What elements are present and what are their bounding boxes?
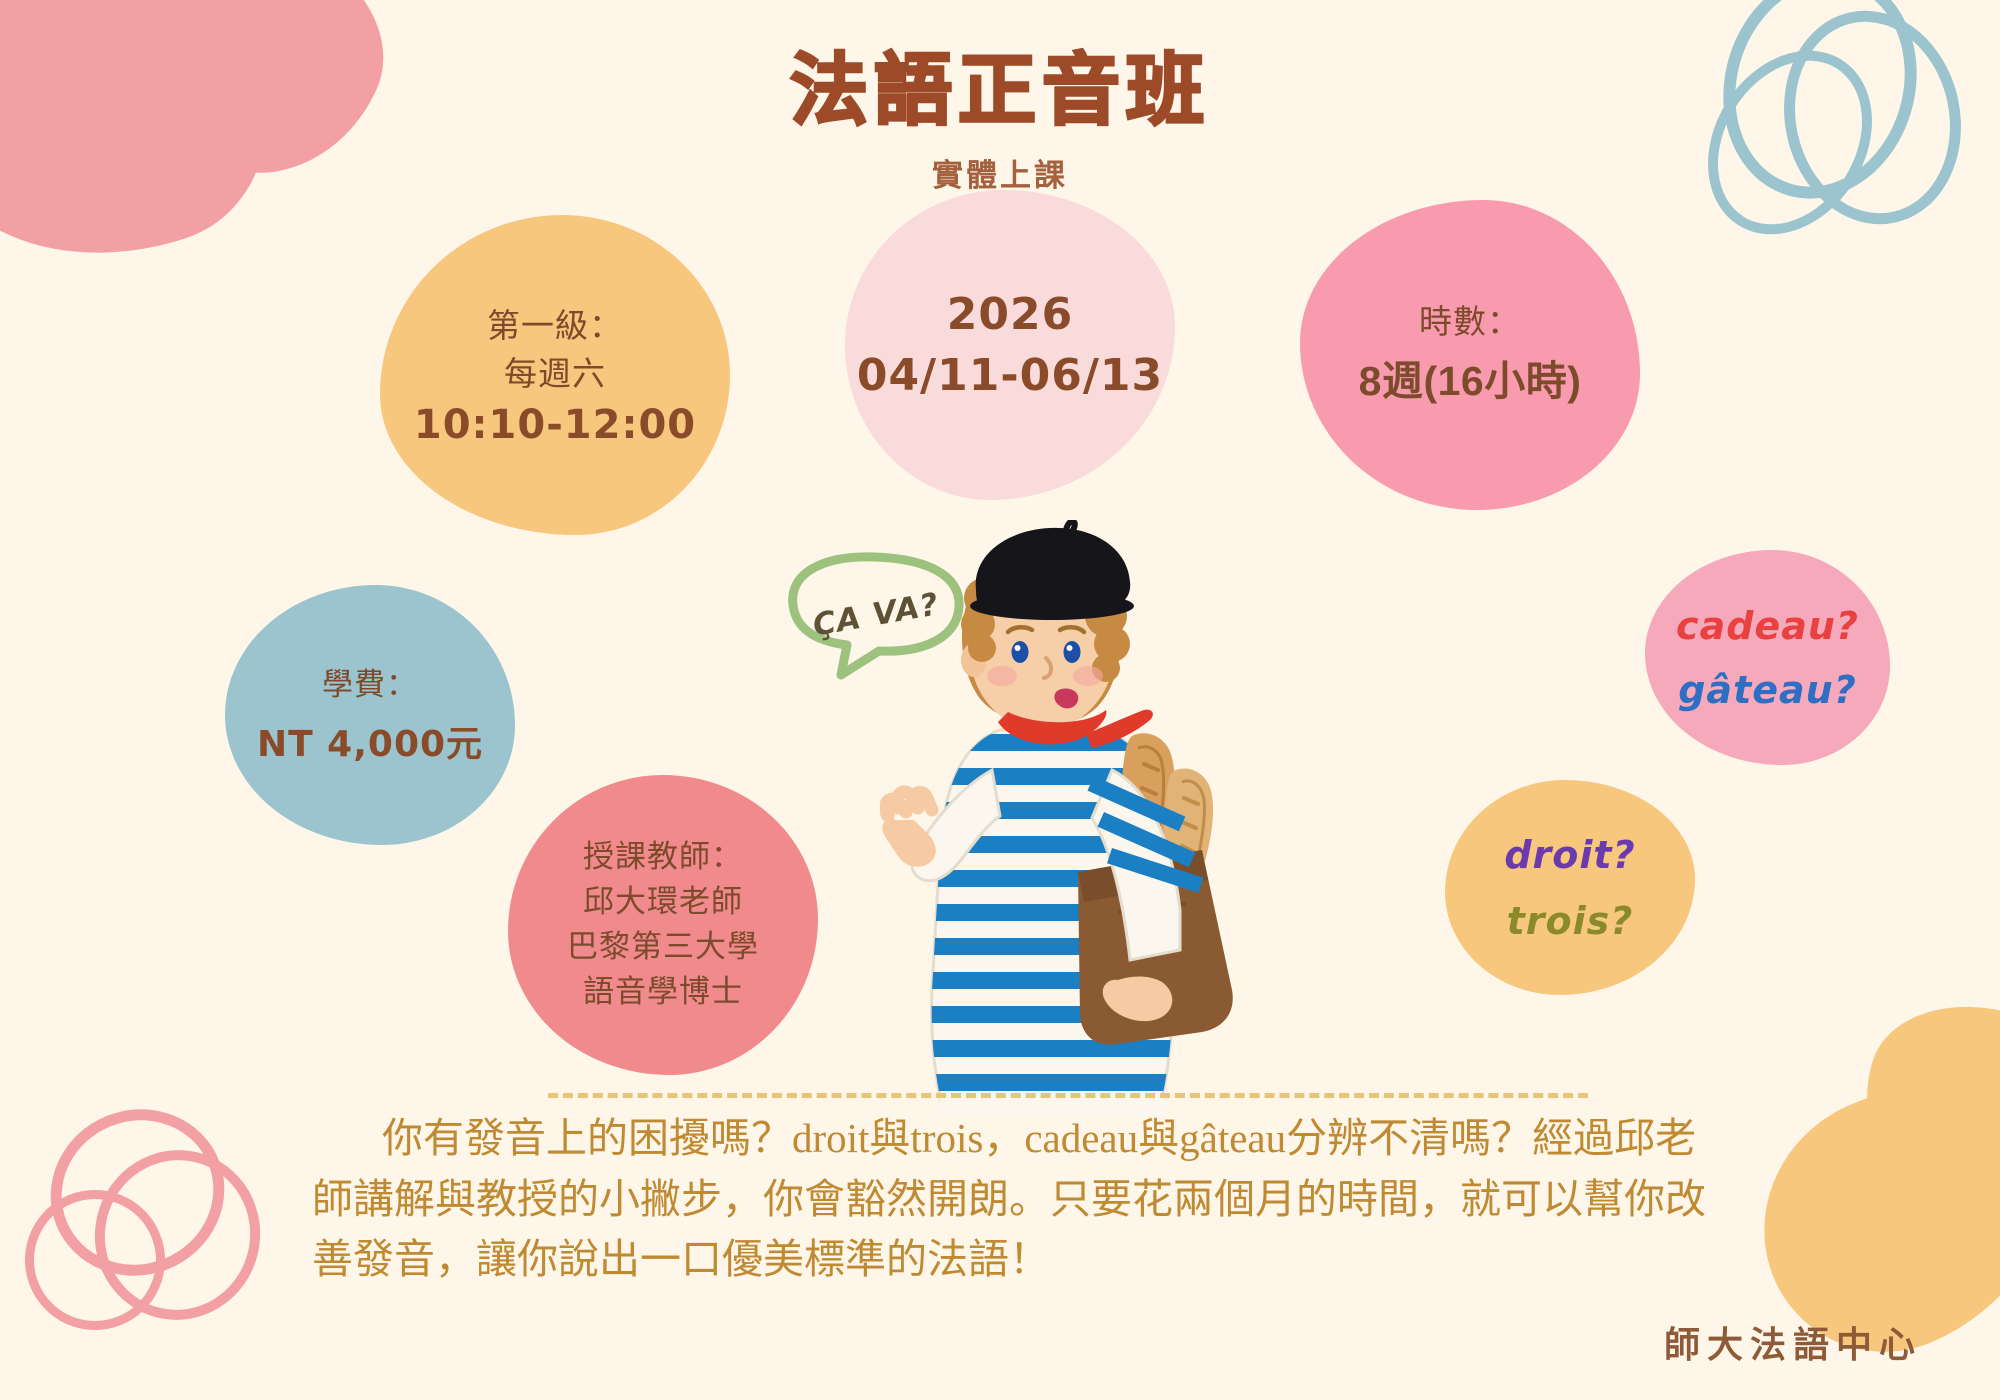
level-label: 第一級： [487,302,623,350]
body-paragraph: 你有發音上的困擾嗎？droit與trois，cadeau與gâteau分辨不清嗎… [312,1108,1712,1290]
french-word-droit: droit? [1504,833,1635,877]
organization-name: 師大法語中心 [1664,1316,1922,1368]
course-year: 2026 [947,289,1073,340]
info-bubble-course-hours: 時數： 8週(16小時) [1300,200,1640,510]
word-bubble-droit-trois: droit? trois? [1445,780,1695,995]
tuition-value: NT 4,000元 [257,715,483,767]
info-bubble-tuition-fee: 學費： NT 4,000元 [225,585,515,845]
french-word-trois: trois? [1507,899,1634,943]
hours-value: 8週(16小時) [1359,352,1582,411]
instructor-name: 邱大環老師 [583,880,743,925]
right-eye [1064,641,1081,663]
dashed-divider [548,1093,1588,1098]
page-title: 法語正音班 [0,28,2000,140]
decorative-ring-pink-1 [25,1083,249,1302]
hours-label: 時數： [1419,298,1521,346]
decorative-blob-bottom-right-2 [1832,977,2000,1263]
tuition-label: 學費： [322,663,418,708]
level-time: 10:10-12:00 [414,402,696,448]
info-bubble-level-schedule: 第一級： 每週六 10:10-12:00 [380,215,730,535]
instructor-label: 授課教師： [583,835,743,880]
decorative-ring-pink-3 [0,1161,194,1358]
poster-canvas: 法語正音班 實體上課 第一級： 每週六 10:10-12:00 2026 04/… [0,0,2000,1400]
info-bubble-course-dates: 2026 04/11-06/13 [845,190,1175,500]
french-word-gateau: gâteau? [1678,668,1857,712]
page-subtitle: 實體上課 [0,150,2000,195]
character-illustration [880,520,1320,1120]
level-day: 每週六 [504,350,606,398]
paragraph-text: 你有發音上的困擾嗎？droit與trois，cadeau與gâteau分辨不清嗎… [312,1115,1706,1282]
french-boy-illustration-icon [880,520,1320,1120]
beret-hat-icon [970,521,1134,620]
instructor-degree: 語音學博士 [583,970,743,1015]
decorative-ring-pink-2 [77,1133,278,1338]
instructor-school: 巴黎第三大學 [567,925,759,970]
course-date-range: 04/11-06/13 [857,350,1163,401]
info-bubble-instructor: 授課教師： 邱大環老師 巴黎第三大學 語音學博士 [508,775,818,1075]
word-bubble-cadeau-gateau: cadeau? gâteau? [1645,550,1890,765]
left-eye [1012,641,1029,663]
french-word-cadeau: cadeau? [1676,604,1859,648]
